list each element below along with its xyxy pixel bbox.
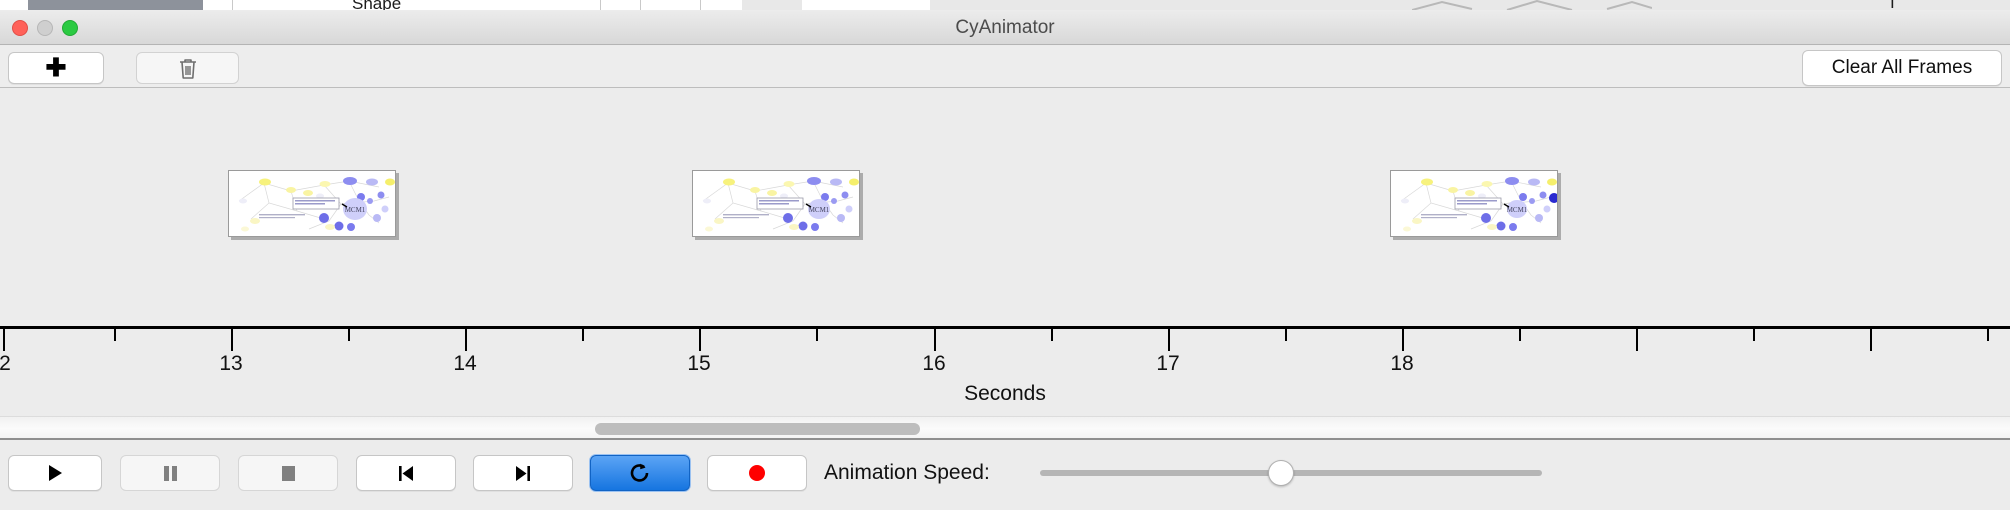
axis-tick-major <box>1168 329 1170 351</box>
svg-text:MCM1: MCM1 <box>809 206 830 214</box>
skip-back-icon <box>395 462 417 484</box>
axis-tick-label: 16 <box>922 352 945 376</box>
background-app-label: Shape <box>352 0 401 10</box>
axis-tick-major <box>465 329 467 351</box>
axis-tick-label: 18 <box>1390 352 1413 376</box>
axis-tick-minor <box>348 329 350 341</box>
axis-tick-major <box>1870 329 1872 351</box>
axis-tick-minor <box>582 329 584 341</box>
axis-tick-minor <box>1285 329 1287 341</box>
stop-button[interactable] <box>238 455 338 491</box>
keyframe-thumbnail[interactable]: MCM1 <box>1390 170 1558 237</box>
axis-tick-major <box>3 329 5 351</box>
axis-tick-major <box>934 329 936 351</box>
skip-back-button[interactable] <box>356 455 456 491</box>
timeline-scrollbar[interactable] <box>0 416 2010 440</box>
network-graph-preview: MCM1 <box>693 171 859 236</box>
add-frame-button[interactable]: ✚ <box>8 52 104 84</box>
cyanimator-window: Shape I CyAnimator ✚ Clear All Frames <box>0 0 2010 510</box>
svg-text:MCM1: MCM1 <box>1507 206 1528 214</box>
keyframe-thumbnail[interactable]: MCM1 <box>692 170 860 237</box>
axis-tick-label: 15 <box>687 352 710 376</box>
loop-icon <box>628 461 652 485</box>
axis-tick-minor <box>1051 329 1053 341</box>
axis-tick-major <box>1636 329 1638 351</box>
network-graph-preview: MCM1 <box>1391 171 1557 236</box>
slider-knob[interactable] <box>1268 460 1294 486</box>
axis-tick-major <box>699 329 701 351</box>
plus-icon: ✚ <box>46 56 67 81</box>
timeline-panel[interactable]: MCM1 <box>0 88 2010 326</box>
trash-icon <box>178 57 198 80</box>
stop-icon <box>277 462 299 484</box>
skip-forward-button[interactable] <box>473 455 573 491</box>
background-app-label-right: I <box>1890 0 1895 10</box>
scrollbar-thumb[interactable] <box>595 423 920 435</box>
background-network-edges <box>1412 0 1652 10</box>
window-title: CyAnimator <box>0 10 2010 45</box>
animation-speed-slider[interactable] <box>1040 455 1542 491</box>
axis-title: Seconds <box>0 382 2010 406</box>
clear-all-frames-label: Clear All Frames <box>1832 57 1972 79</box>
axis-tick-major <box>1402 329 1404 351</box>
axis-tick-minor <box>114 329 116 341</box>
time-axis: 2 13 14 15 16 17 18 Seconds <box>0 326 2010 396</box>
play-icon <box>44 462 66 484</box>
loop-button[interactable] <box>590 455 690 491</box>
axis-tick-minor <box>1519 329 1521 341</box>
background-sidebar <box>28 0 203 10</box>
axis-tick-label: 17 <box>1156 352 1179 376</box>
record-icon <box>746 462 768 484</box>
clear-all-frames-button[interactable]: Clear All Frames <box>1802 50 2002 86</box>
playback-control-bar: Animation Speed: <box>0 442 2010 510</box>
background-app-strip: Shape I <box>0 0 2010 10</box>
pause-button[interactable] <box>120 455 220 491</box>
svg-text:MCM1: MCM1 <box>345 206 366 214</box>
play-button[interactable] <box>8 455 102 491</box>
skip-forward-icon <box>512 462 534 484</box>
delete-frame-button[interactable] <box>136 52 239 84</box>
axis-line <box>0 326 2010 329</box>
axis-tick-label: 2 <box>0 352 11 376</box>
toolbar: ✚ Clear All Frames <box>0 46 2010 88</box>
network-graph-preview: MCM1 <box>229 171 395 236</box>
axis-tick-minor <box>1987 329 1989 341</box>
axis-tick-label: 13 <box>219 352 242 376</box>
keyframe-thumbnail[interactable]: MCM1 <box>228 170 396 237</box>
title-bar[interactable]: CyAnimator <box>0 10 2010 45</box>
axis-tick-label: 14 <box>453 352 476 376</box>
pause-icon <box>159 462 181 484</box>
axis-tick-minor <box>1753 329 1755 341</box>
axis-tick-minor <box>816 329 818 341</box>
record-button[interactable] <box>707 455 807 491</box>
animation-speed-label: Animation Speed: <box>824 455 990 491</box>
axis-tick-major <box>231 329 233 351</box>
